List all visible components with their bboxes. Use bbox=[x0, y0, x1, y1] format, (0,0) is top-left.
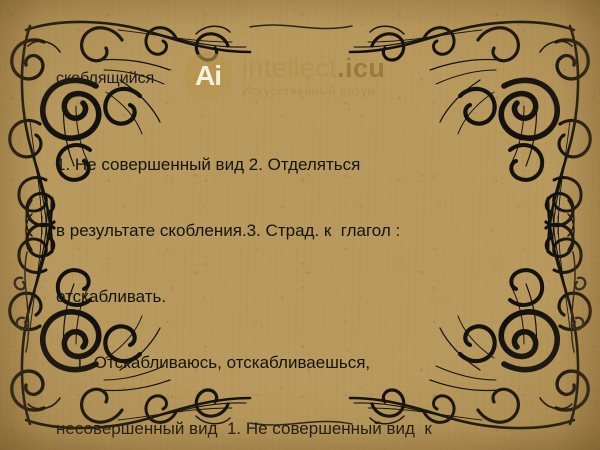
definition-line: отскабливать. bbox=[56, 286, 556, 308]
definition-body: 1. Не совершенный вид 2. Отделяться в ре… bbox=[56, 110, 556, 450]
ai-logo-icon: Ai bbox=[184, 52, 232, 100]
watermark-text: intellect.icu Искусственный разум bbox=[242, 55, 385, 97]
watermark-brand: intellect.icu bbox=[242, 55, 385, 82]
headword: скоблящийся bbox=[56, 70, 154, 88]
definition-line: 1. Отскабливаюсь, отскабливаешься, bbox=[56, 352, 556, 374]
definition-line: в результате скобления.3. Страд. к глаго… bbox=[56, 220, 556, 242]
watermark-tagline: Искусственный разум bbox=[242, 85, 385, 97]
parchment-page: Ai intellect.icu Искусственный разум ско… bbox=[0, 0, 600, 450]
watermark-brand-tld: .icu bbox=[337, 53, 385, 83]
definition-line: 1. Не совершенный вид 2. Отделяться bbox=[56, 154, 556, 176]
definition-line: несовершенный вид 1. Не совершенный вид … bbox=[56, 418, 556, 440]
watermark-brand-main: intellect bbox=[242, 53, 337, 83]
watermark: Ai intellect.icu Искусственный разум bbox=[184, 52, 385, 100]
